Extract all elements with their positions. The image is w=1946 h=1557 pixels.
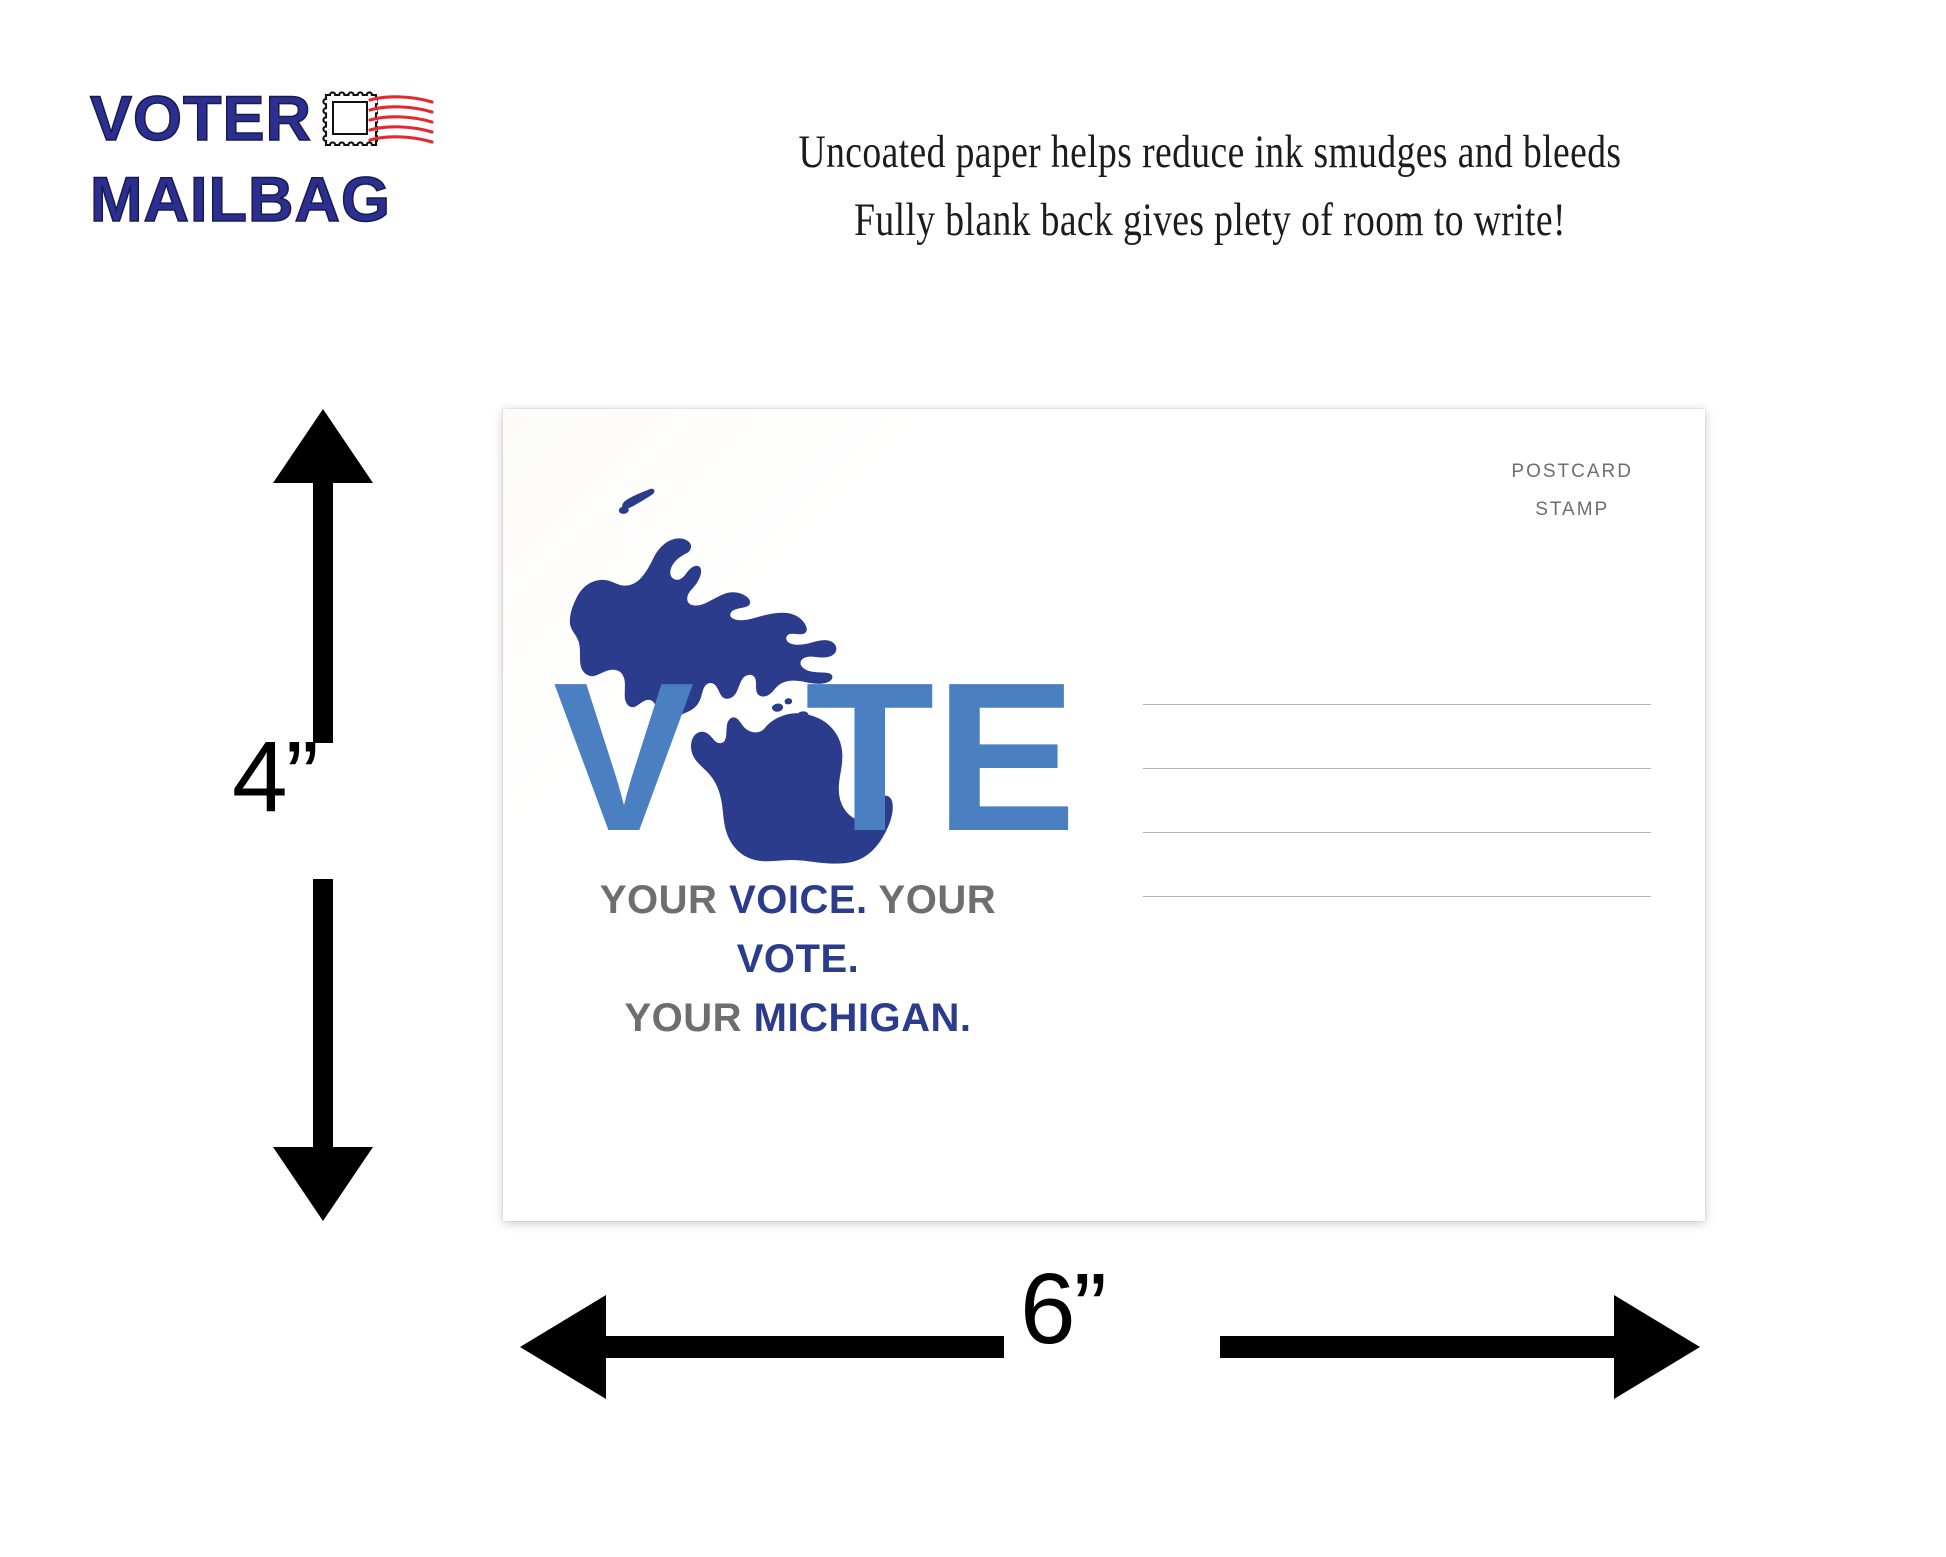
vote-wordmark: V T E — [547, 651, 1059, 851]
headline-line-2: Fully blank back gives plety of room to … — [690, 186, 1730, 254]
vote-letter-e: E — [935, 651, 1074, 863]
tagline-your-3: YOUR — [624, 996, 753, 1040]
width-dimension-label: 6” — [1020, 1252, 1105, 1367]
postcard-tagline: YOUR VOICE. YOUR VOTE. YOUR MICHIGAN. — [533, 871, 1063, 1049]
brand-logo-line-1: VOTER — [90, 88, 510, 151]
postmark-wavy-lines-icon — [368, 91, 434, 154]
brand-logo: VOTER M — [90, 88, 510, 232]
postcard-preview: POSTCARD STAMP — [503, 409, 1705, 1221]
stamp-placeholder-line-1: POSTCARD — [1511, 453, 1633, 491]
tagline-line-1: YOUR VOICE. YOUR VOTE. — [533, 871, 1063, 989]
vote-letter-t: T — [805, 651, 933, 863]
brand-logo-line-2: MAILBAG — [90, 169, 510, 232]
tagline-your-2: YOUR — [868, 878, 996, 922]
tagline-voice: VOICE. — [729, 878, 868, 922]
address-line — [1143, 704, 1651, 705]
height-dimension-label: 4” — [232, 720, 317, 835]
brand-logo-word-mailbag: MAILBAG — [90, 169, 391, 232]
address-lines-group — [1143, 704, 1651, 960]
address-line — [1143, 832, 1651, 833]
tagline-your-1: YOUR — [600, 878, 729, 922]
stamp-placeholder-line-2: STAMP — [1511, 491, 1633, 529]
tagline-michigan: MICHIGAN. — [754, 996, 972, 1040]
postcard-artwork: V T E YOUR VOICE. YOUR VOTE. YOUR MICHIG… — [533, 463, 1063, 1143]
headline-block: Uncoated paper helps reduce ink smudges … — [560, 118, 1860, 254]
tagline-vote: VOTE. — [737, 937, 860, 981]
vote-letter-v: V — [553, 651, 692, 863]
stamp-placeholder: POSTCARD STAMP — [1511, 453, 1633, 529]
stamp-postmark-group — [322, 89, 432, 151]
width-dimension-arrow — [520, 1292, 1700, 1402]
address-line — [1143, 896, 1651, 897]
tagline-line-2: YOUR MICHIGAN. — [533, 989, 1063, 1048]
headline-line-1: Uncoated paper helps reduce ink smudges … — [690, 118, 1730, 186]
brand-logo-word-voter: VOTER — [90, 88, 312, 151]
address-line — [1143, 768, 1651, 769]
